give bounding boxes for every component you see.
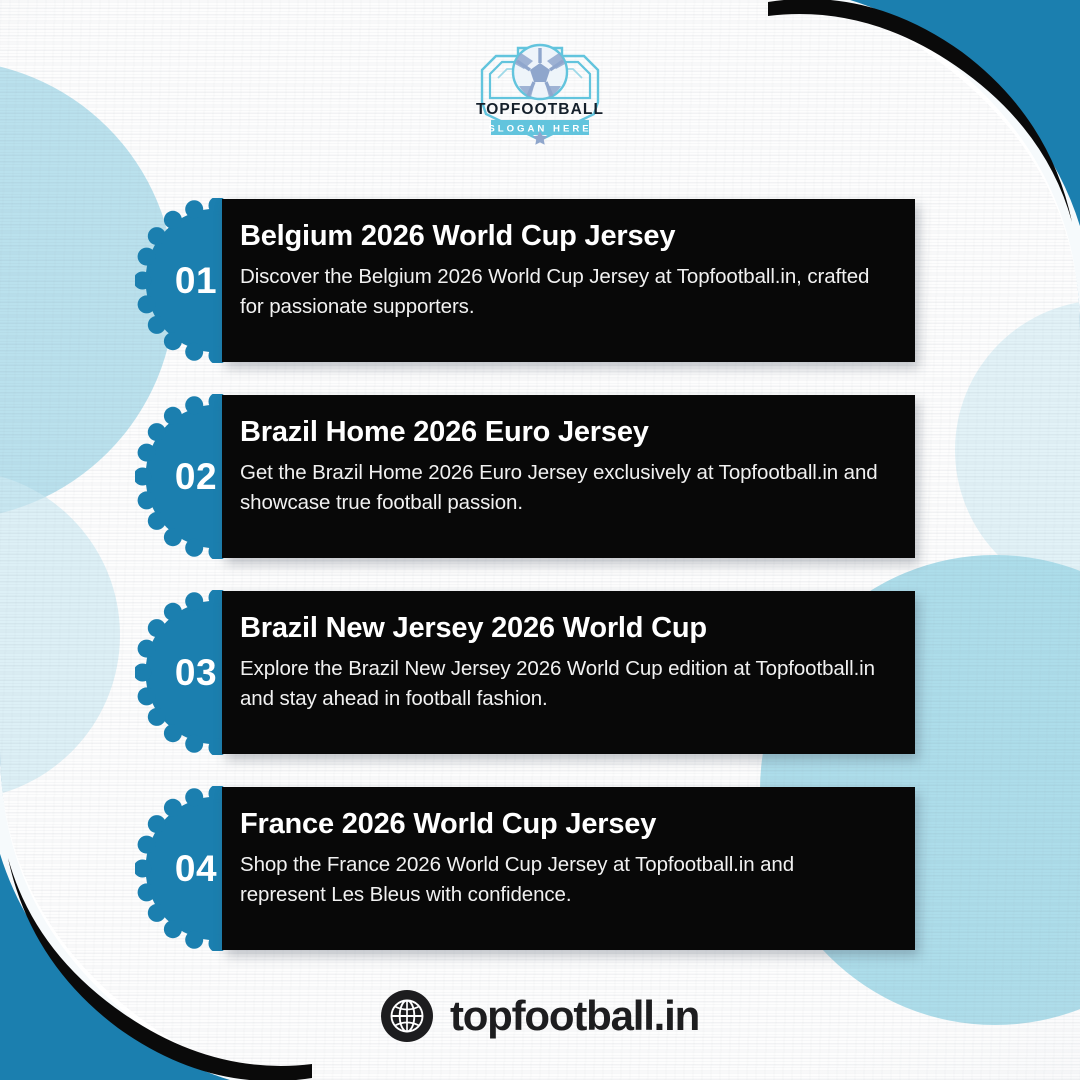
card-panel[interactable]: Brazil Home 2026 Euro Jersey Get the Bra… [222, 395, 915, 558]
card-panel[interactable]: Brazil New Jersey 2026 World Cup Explore… [222, 591, 915, 754]
card-description: Explore the Brazil New Jersey 2026 World… [240, 654, 885, 714]
footer: topfootball.in [0, 990, 1080, 1042]
list-item[interactable]: 04 France 2026 World Cup Jersey Shop the… [0, 787, 1080, 950]
card-description: Shop the France 2026 World Cup Jersey at… [240, 850, 885, 910]
card-panel[interactable]: France 2026 World Cup Jersey Shop the Fr… [222, 787, 915, 950]
card-description: Discover the Belgium 2026 World Cup Jers… [240, 262, 885, 322]
footer-website[interactable]: topfootball.in [450, 992, 699, 1040]
brand-logo: TOPFOOTBALL SLOGAN HERE [0, 36, 1080, 146]
card-title: Brazil New Jersey 2026 World Cup [240, 613, 885, 645]
soccer-ball-shield-badge-icon: TOPFOOTBALL SLOGAN HERE [472, 36, 608, 146]
infographic-page: TOPFOOTBALL SLOGAN HERE [0, 0, 1080, 1080]
card-list: 01 Belgium 2026 World Cup Jersey Discove… [0, 199, 1080, 950]
logo-name-text: TOPFOOTBALL [476, 101, 604, 118]
card-description: Get the Brazil Home 2026 Euro Jersey exc… [240, 458, 885, 518]
card-title: Brazil Home 2026 Euro Jersey [240, 417, 885, 449]
list-item[interactable]: 03 Brazil New Jersey 2026 World Cup Expl… [0, 591, 1080, 754]
card-title: France 2026 World Cup Jersey [240, 809, 885, 841]
list-item[interactable]: 02 Brazil Home 2026 Euro Jersey Get the … [0, 395, 1080, 558]
list-item[interactable]: 01 Belgium 2026 World Cup Jersey Discove… [0, 199, 1080, 362]
card-title: Belgium 2026 World Cup Jersey [240, 221, 885, 253]
globe-icon [381, 990, 433, 1042]
card-panel[interactable]: Belgium 2026 World Cup Jersey Discover t… [222, 199, 915, 362]
